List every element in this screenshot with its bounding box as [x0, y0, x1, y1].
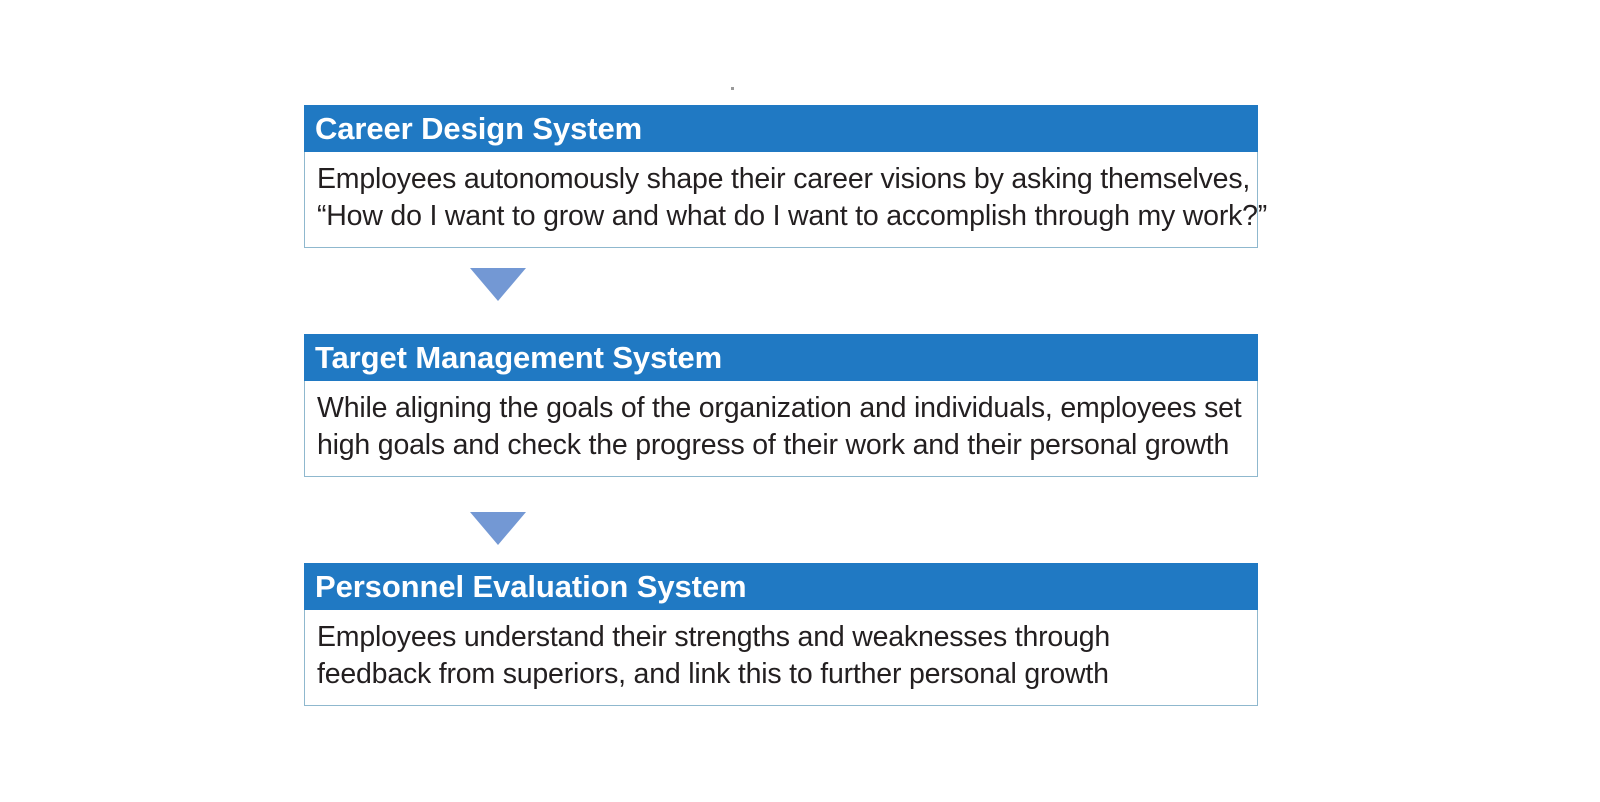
stage-body-target-management-system: While aligning the goals of the organiza…: [304, 381, 1258, 477]
stage-body-career-design-system: Employees autonomously shape their caree…: [304, 152, 1258, 248]
stage-body-line: Employees autonomously shape their caree…: [317, 161, 1245, 198]
image-speck-artifact: [731, 87, 734, 90]
career-development-flow-diagram: Career Design System Employees autonomou…: [0, 0, 1600, 802]
stage-body-line: Employees understand their strengths and…: [317, 619, 1245, 656]
stage-body-line: “How do I want to grow and what do I wan…: [317, 198, 1245, 235]
stage-target-management-system: Target Management System While aligning …: [304, 334, 1258, 477]
stage-body-personnel-evaluation-system: Employees understand their strengths and…: [304, 610, 1258, 706]
arrow-down-icon: [470, 512, 526, 545]
stage-header-career-design-system: Career Design System: [304, 105, 1258, 152]
connector-2: [304, 477, 1258, 563]
flow-column: Career Design System Employees autonomou…: [304, 105, 1258, 706]
stage-personnel-evaluation-system: Personnel Evaluation System Employees un…: [304, 563, 1258, 706]
arrow-down-icon: [470, 268, 526, 301]
stage-header-personnel-evaluation-system: Personnel Evaluation System: [304, 563, 1258, 610]
stage-body-line: high goals and check the progress of the…: [317, 427, 1245, 464]
stage-body-line: feedback from superiors, and link this t…: [317, 656, 1245, 693]
stage-header-target-management-system: Target Management System: [304, 334, 1258, 381]
connector-1: [304, 248, 1258, 334]
stage-body-line: While aligning the goals of the organiza…: [317, 390, 1245, 427]
stage-career-design-system: Career Design System Employees autonomou…: [304, 105, 1258, 248]
